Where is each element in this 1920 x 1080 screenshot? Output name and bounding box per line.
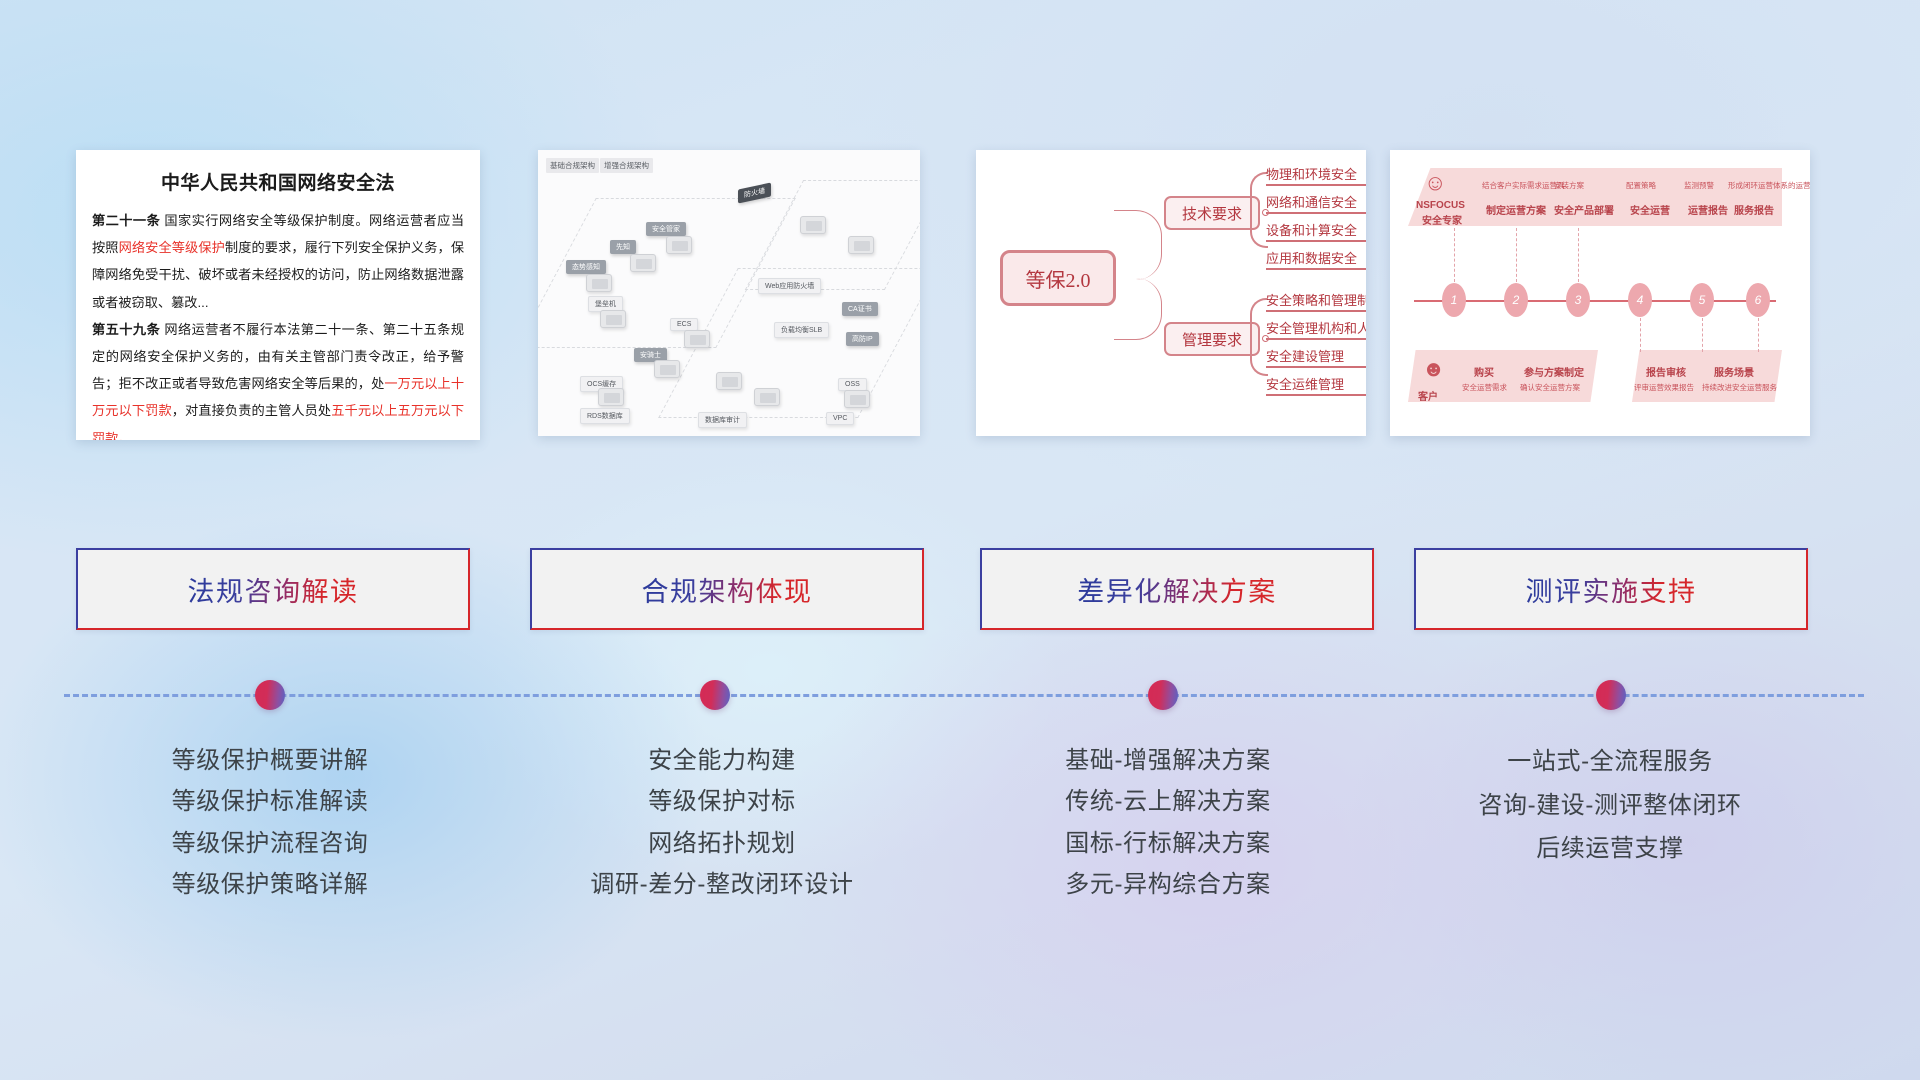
arch-node-situational: [586, 274, 612, 292]
mindmap-leaf-t1: 物理和环境安全: [1266, 164, 1366, 186]
nsfocus-diagram: ☺ NSFOCUS 安全专家 结合客户实际需求运营具 制定运营方案 安装方案 安…: [1390, 150, 1810, 436]
arch-node-bastion: [600, 310, 626, 328]
detail-item-1-3: 等级保护流程咨询: [70, 823, 470, 864]
arch-chip-ca: CA证书: [842, 302, 878, 316]
card-nsfocus-timeline[interactable]: ☺ NSFOCUS 安全专家 结合客户实际需求运营具 制定运营方案 安装方案 安…: [1390, 150, 1810, 436]
nsfocus-bottom-small-2: 确认安全运营方案: [1520, 382, 1580, 393]
arch-chip-security-butler: 安全管家: [646, 222, 686, 236]
nsfocus-bottom-small-4: 持续改进安全运营服务: [1702, 382, 1777, 393]
nsfocus-tick-4: [1640, 318, 1641, 352]
nsfocus-brand: NSFOCUS: [1416, 200, 1465, 211]
nsfocus-bottom-big-1: 购买: [1474, 364, 1494, 379]
nsfocus-top-small-5: 形成闭环运营体系的运营报告: [1728, 180, 1810, 191]
arch-chip-xianzhi: 先知: [610, 240, 636, 254]
nsfocus-bottom-small-1: 安全运营需求: [1462, 382, 1507, 393]
arch-node-ecs: [684, 330, 710, 348]
nsfocus-tick-2: [1516, 228, 1517, 282]
detail-item-4-3: 后续运营支撑: [1410, 827, 1810, 871]
nsfocus-step-1: 1: [1442, 283, 1466, 317]
mindmap-leaf-m3: 安全建设管理: [1266, 346, 1366, 368]
detail-column-1: 等级保护概要讲解 等级保护标准解读 等级保护流程咨询 等级保护策略详解: [70, 740, 470, 905]
arch-chip-situational: 态势感知: [566, 260, 606, 274]
detail-item-1-1: 等级保护概要讲解: [70, 740, 470, 781]
arch-node-pc: [800, 216, 826, 234]
mindmap-connector-bottom: [1114, 278, 1162, 340]
arch-chip-db-audit: 数据库审计: [698, 412, 747, 428]
nsfocus-axis: [1414, 300, 1776, 302]
article-59-text-2: ，对直接负责的主管人员处: [172, 403, 331, 418]
title-box-differentiated-solution[interactable]: 差异化解决方案: [980, 548, 1374, 630]
nsfocus-top-big-5: 服务报告: [1734, 202, 1774, 217]
title-label-2: 合规架构体现: [642, 570, 813, 609]
article-21-highlight: 网络安全等级保护: [119, 240, 225, 255]
nsfocus-top-small-4: 监测预警: [1684, 180, 1714, 191]
detail-item-2-3: 网络拓扑规划: [522, 823, 922, 864]
nsfocus-bottom-big-4: 服务场景: [1714, 364, 1754, 379]
law-article-59: 第五十九条 网络运营者不履行本法第二十一条、第二十五条规定的网络安全保护义务的，…: [92, 316, 464, 440]
nsfocus-top-small-2: 安装方案: [1554, 180, 1584, 191]
title-box-regulation-consulting[interactable]: 法规咨询解读: [76, 548, 470, 630]
nsfocus-bottom-big-2: 参与方案制定: [1524, 364, 1584, 379]
arch-node-scale-2: [754, 388, 780, 406]
arch-node-xianzhi: [630, 254, 656, 272]
arch-tab-basic[interactable]: 基础合规架构: [546, 158, 599, 173]
arch-chip-waf: Web应用防火墙: [758, 278, 821, 294]
nsfocus-top-big-1: 制定运营方案: [1486, 202, 1546, 217]
nsfocus-top-band: [1408, 168, 1782, 226]
card-cloud-architecture[interactable]: 基础合规架构 增强合规架构 防火墙 安全管家 先知 态势感知 堡垒机 ECS 安…: [538, 150, 920, 436]
detail-columns: 等级保护概要讲解 等级保护标准解读 等级保护流程咨询 等级保护策略详解 安全能力…: [0, 740, 1920, 990]
mindmap-connector-top: [1114, 210, 1162, 280]
mindmap-leaf-t3: 设备和计算安全: [1266, 220, 1366, 242]
law-body: 第二十一条 国家实行网络安全等级保护制度。网络运营者应当按照网络安全等级保护制度…: [76, 207, 480, 440]
detail-item-3-4: 多元-异构综合方案: [968, 864, 1368, 905]
nsfocus-step-5: 5: [1690, 283, 1714, 317]
timeline-dot-1[interactable]: [255, 680, 285, 710]
nsfocus-customer-label: 客户: [1418, 388, 1438, 403]
nsfocus-top-big-4: 运营报告: [1688, 202, 1728, 217]
nsfocus-tick-3: [1578, 228, 1579, 282]
title-box-evaluation-support[interactable]: 测评实施支持: [1414, 548, 1808, 630]
detail-column-2: 安全能力构建 等级保护对标 网络拓扑规划 调研-差分-整改闭环设计: [522, 740, 922, 905]
law-title: 中华人民共和国网络安全法: [76, 168, 480, 195]
nsfocus-top-small-3: 配置策略: [1626, 180, 1656, 191]
mindmap-leaf-m2: 安全管理机构和人员: [1266, 318, 1366, 340]
nsfocus-tick-6: [1758, 318, 1759, 352]
detail-item-1-4: 等级保护策略详解: [70, 864, 470, 905]
arch-tab-enhanced[interactable]: 增强合规架构: [600, 158, 653, 173]
detail-item-1-2: 等级保护标准解读: [70, 781, 470, 822]
nsfocus-tick-5: [1702, 318, 1703, 352]
arch-chip-antiddos: 高防IP: [846, 332, 879, 346]
detail-item-2-1: 安全能力构建: [522, 740, 922, 781]
nsfocus-top-big-3: 安全运营: [1630, 202, 1670, 217]
nsfocus-step-6: 6: [1746, 283, 1770, 317]
timeline-dot-2[interactable]: [700, 680, 730, 710]
mindmap-branch-technical: 技术要求: [1164, 196, 1260, 230]
arch-chip-vpc: VPC: [826, 412, 854, 425]
title-label-4: 测评实施支持: [1526, 570, 1697, 609]
article-59-label: 第五十九条: [92, 322, 160, 337]
detail-item-4-2: 咨询-建设-测评整体闭环: [1410, 784, 1810, 828]
mindmap-root: 等保2.0: [1000, 250, 1116, 306]
nsfocus-step-4: 4: [1628, 283, 1652, 317]
detail-item-2-4: 调研-差分-整改闭环设计: [522, 864, 922, 905]
detail-item-3-1: 基础-增强解决方案: [968, 740, 1368, 781]
nsfocus-brand-sub: 安全专家: [1422, 212, 1462, 227]
mindmap-branch-management: 管理要求: [1164, 322, 1260, 356]
expert-person-icon: ☺: [1424, 172, 1446, 194]
nsfocus-top-big-2: 安全产品部署: [1554, 202, 1614, 217]
arch-chip-rds: RDS数据库: [580, 408, 630, 424]
arch-chip-slb: 负载均衡SLB: [774, 322, 829, 338]
architecture-diagram: 基础合规架构 增强合规架构 防火墙 安全管家 先知 态势感知 堡垒机 ECS 安…: [538, 150, 920, 436]
timeline-dot-4[interactable]: [1596, 680, 1626, 710]
timeline-dot-3[interactable]: [1148, 680, 1178, 710]
mindmap-leaf-m4: 安全运维管理: [1266, 374, 1366, 396]
mindmap-leaf-t4: 应用和数据安全: [1266, 248, 1366, 270]
mindmap: 等保2.0 技术要求 物理和环境安全 网络和通信安全 设备和计算安全 应用和数据…: [976, 150, 1366, 436]
nsfocus-step-2: 2: [1504, 283, 1528, 317]
card-mindmap-dengbao[interactable]: 等保2.0 技术要求 物理和环境安全 网络和通信安全 设备和计算安全 应用和数据…: [976, 150, 1366, 436]
detail-item-2-2: 等级保护对标: [522, 781, 922, 822]
detail-item-3-3: 国标-行标解决方案: [968, 823, 1368, 864]
nsfocus-bottom-small-3: 评审运营效果报告: [1634, 382, 1694, 393]
reference-card-row: 中华人民共和国网络安全法 第二十一条 国家实行网络安全等级保护制度。网络运营者应…: [0, 150, 1920, 440]
nsfocus-tick-1: [1454, 228, 1455, 282]
mindmap-leaf-t2: 网络和通信安全: [1266, 192, 1366, 214]
arch-node-security-butler: [666, 236, 692, 254]
mindmap-leaf-m1: 安全策略和管理制度: [1266, 290, 1366, 312]
nsfocus-bottom-big-3: 报告审核: [1646, 364, 1686, 379]
card-cybersecurity-law[interactable]: 中华人民共和国网络安全法 第二十一条 国家实行网络安全等级保护制度。网络运营者应…: [76, 150, 480, 440]
detail-item-3-2: 传统-云上解决方案: [968, 781, 1368, 822]
nsfocus-top-small-1: 结合客户实际需求运营具: [1482, 180, 1565, 191]
title-label-3: 差异化解决方案: [1077, 570, 1277, 609]
customer-person-icon: ☻: [1422, 358, 1445, 380]
article-21-label: 第二十一条: [92, 213, 160, 228]
arch-node-anqishi: [654, 360, 680, 378]
title-label-1: 法规咨询解读: [188, 570, 359, 609]
title-box-compliance-architecture[interactable]: 合规架构体现: [530, 548, 924, 630]
arch-node-mobile: [848, 236, 874, 254]
law-article-21: 第二十一条 国家实行网络安全等级保护制度。网络运营者应当按照网络安全等级保护制度…: [92, 207, 464, 316]
detail-item-4-1: 一站式-全流程服务: [1410, 740, 1810, 784]
timeline-dashed-line: [64, 694, 1864, 697]
arch-node-ocs: [598, 388, 624, 406]
detail-column-3: 基础-增强解决方案 传统-云上解决方案 国标-行标解决方案 多元-异构综合方案: [968, 740, 1368, 905]
arch-node-scale-1: [716, 372, 742, 390]
nsfocus-step-3: 3: [1566, 283, 1590, 317]
title-box-row: 法规咨询解读 合规架构体现 差异化解决方案 测评实施支持: [0, 548, 1920, 630]
arch-node-oss: [844, 390, 870, 408]
detail-column-4: 一站式-全流程服务 咨询-建设-测评整体闭环 后续运营支撑: [1410, 740, 1810, 871]
